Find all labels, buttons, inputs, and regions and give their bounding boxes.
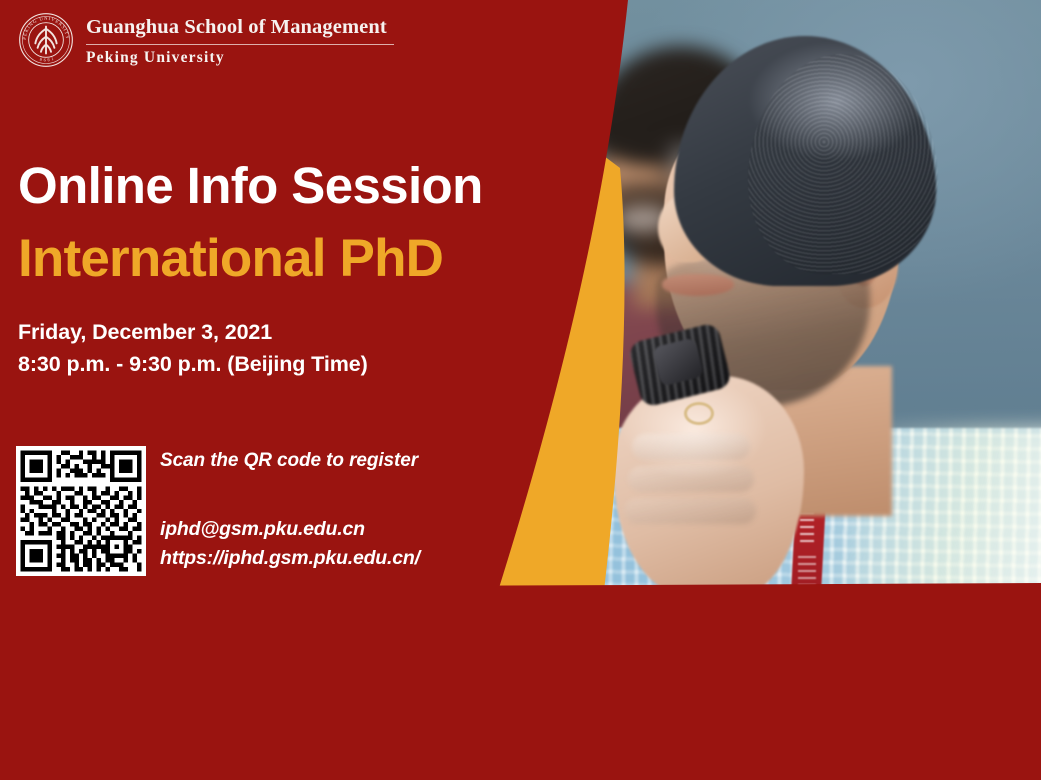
ring-icon — [684, 402, 714, 425]
registration-qr-code[interactable] — [16, 446, 146, 576]
foreground-person — [598, 36, 1041, 591]
event-time: 8:30 p.m. - 9:30 p.m. (Beijing Time) — [18, 352, 368, 377]
finger — [632, 434, 750, 460]
lanyard-text-lower — [798, 556, 816, 591]
finger — [624, 498, 756, 524]
contact-email[interactable]: iphd@gsm.pku.edu.cn — [160, 518, 365, 541]
headline-secondary: International PhD — [18, 232, 443, 285]
brand-text: Guanghua School of Management Peking Uni… — [86, 14, 394, 65]
registration-url[interactable]: https://iphd.gsm.pku.edu.cn/ — [160, 547, 420, 570]
headline-primary: Online Info Session — [18, 160, 483, 211]
poster-canvas: PEKING UNIVERSITY 1898 Guanghua School o… — [0, 0, 1041, 780]
brand-school-name: Guanghua School of Management — [86, 16, 394, 39]
foreground-person-lips — [662, 274, 734, 296]
qr-code-icon — [16, 446, 146, 576]
finger — [628, 466, 754, 492]
peking-university-seal-icon: PEKING UNIVERSITY 1898 — [18, 12, 74, 68]
brand-divider — [86, 44, 394, 45]
event-photo — [430, 0, 1041, 591]
brand-university-name: Peking University — [86, 49, 394, 66]
qr-caption: Scan the QR code to register — [160, 450, 418, 472]
brand-lockup: PEKING UNIVERSITY 1898 Guanghua School o… — [18, 12, 394, 68]
event-date: Friday, December 3, 2021 — [18, 320, 272, 345]
bottom-red-band — [0, 583, 1041, 780]
